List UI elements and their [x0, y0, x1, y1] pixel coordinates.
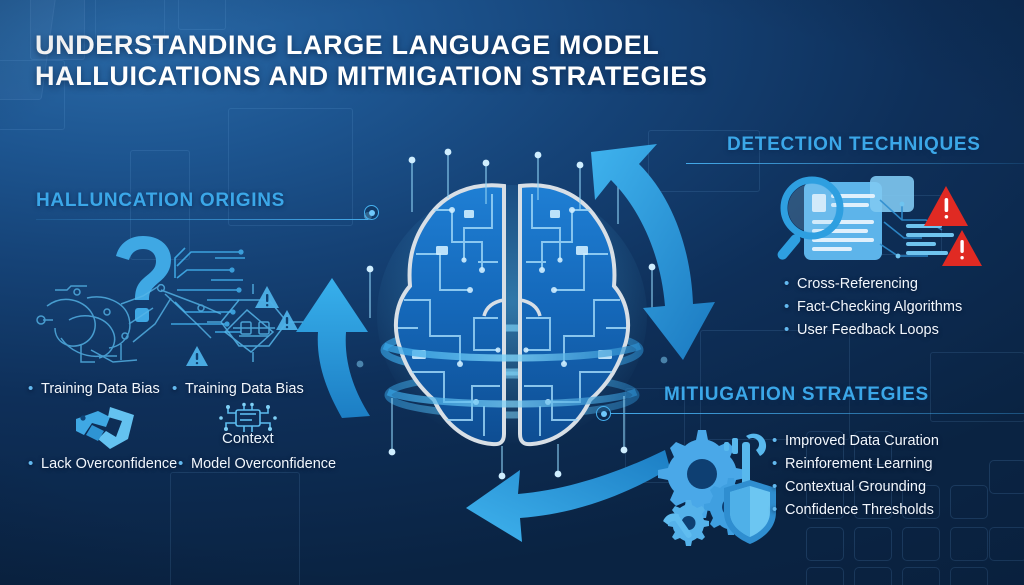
handshake-bias-icon	[70, 405, 140, 453]
detection-underline	[686, 163, 1024, 164]
section-heading-mitigation: MITIUGATION STRATEGIES	[664, 384, 929, 406]
infographic-canvas: UNDERSTANDING LARGE LANGUAGE MODEL HALLU…	[0, 0, 1024, 585]
gears-wrench-shield-icon	[660, 420, 780, 540]
origins-underline	[36, 219, 368, 220]
section-heading-origins: HALLUNCATION ORIGINS	[36, 190, 285, 212]
origins-left-bottom-label: Lack Overconfidence	[28, 456, 177, 472]
origins-connector-node	[364, 205, 379, 220]
list-item: Improved Data Curation	[772, 430, 939, 453]
detection-bullet-list: Cross-Referencing Fact-Checking Algorith…	[784, 273, 962, 342]
list-item: Cross-Referencing	[784, 273, 962, 296]
origins-right-top-label: Training Data Bias	[172, 381, 304, 397]
list-item: Confidence Thresholds	[772, 499, 939, 522]
arrow-mitigation-to-origins	[460, 448, 670, 553]
origins-right-bottom-label: Model Overconfidence	[178, 456, 336, 472]
list-item: User Feedback Loops	[784, 319, 962, 342]
origins-left-top-label: Training Data Bias	[28, 381, 160, 397]
list-item: Reinforement Learning	[772, 453, 939, 476]
arrow-brain-to-detection	[565, 138, 745, 363]
mitigation-connector-node	[596, 406, 611, 421]
mitigation-bullet-list: Improved Data Curation Reinforement Lear…	[772, 430, 939, 522]
list-item: Fact-Checking Algorithms	[784, 296, 962, 319]
magnifier-document-alert-icon	[776, 172, 986, 272]
section-heading-detection: DETECTION TECHNIQUES	[727, 134, 981, 156]
page-title: UNDERSTANDING LARGE LANGUAGE MODEL HALLU…	[35, 30, 795, 92]
context-caption: Context	[222, 430, 274, 447]
list-item: Contextual Grounding	[772, 476, 939, 499]
question-mark-network-icon	[25, 228, 335, 368]
mitigation-underline	[610, 413, 1024, 414]
